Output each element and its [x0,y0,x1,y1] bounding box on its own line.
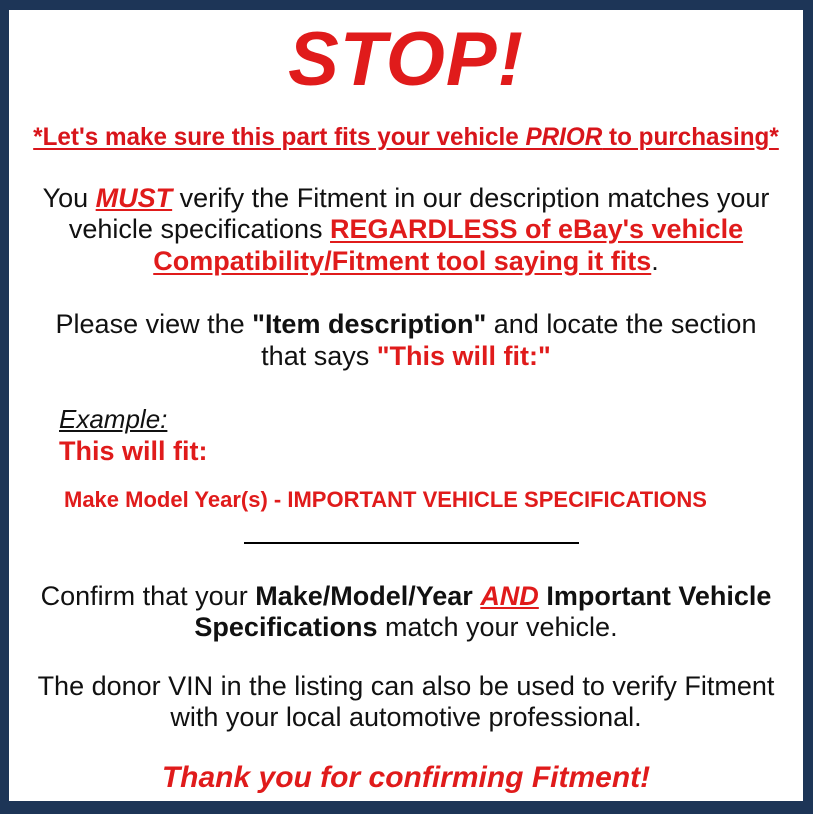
verify-text-3: . [651,246,659,276]
confirm-text-1: Confirm that your [41,581,256,611]
emphasis-this-will-fit: "This will fit:" [377,341,551,371]
item-desc-text-1: Please view the [56,309,253,339]
example-block: Example: This will fit: Make Model Year(… [19,372,793,512]
closing-thank-you: Thank you for confirming Fitment! [19,734,793,794]
emphasis-item-description: "Item description" [252,309,486,339]
divider-container [19,513,793,553]
subtitle-text-before: *Let's make sure this part fits your veh… [33,123,525,151]
example-label-row: Example: [59,406,793,433]
subtitle-text-after: to purchasing* [602,123,779,151]
paragraph-donor-vin: The donor VIN in the listing can also be… [19,644,793,734]
paragraph-item-description: Please view the "Item description" and l… [19,277,793,372]
subtitle-emphasis-prior: PRIOR [525,123,602,151]
emphasis-make-model-year: Make/Model/Year [255,581,473,611]
emphasis-and: AND [480,581,539,611]
paragraph-verify-fitment: You MUST verify the Fitment in our descr… [19,152,793,278]
emphasis-must: MUST [96,183,173,213]
notice-content: STOP! *Let's make sure this part fits yo… [9,10,803,801]
subtitle-banner: *Let's make sure this part fits your veh… [31,98,782,152]
confirm-text-2: match your vehicle. [377,612,617,642]
paragraph-confirm-match: Confirm that your Make/Model/Year AND Im… [19,553,793,644]
example-fit-heading: This will fit: [59,434,793,467]
horizontal-divider [244,542,579,544]
example-label: Example: [59,406,167,433]
example-spec-line: Make Model Year(s) - IMPORTANT VEHICLE S… [59,466,793,512]
fitment-notice-card: STOP! *Let's make sure this part fits yo… [0,0,813,814]
page-title: STOP! [19,10,793,98]
verify-text-1: You [43,183,96,213]
